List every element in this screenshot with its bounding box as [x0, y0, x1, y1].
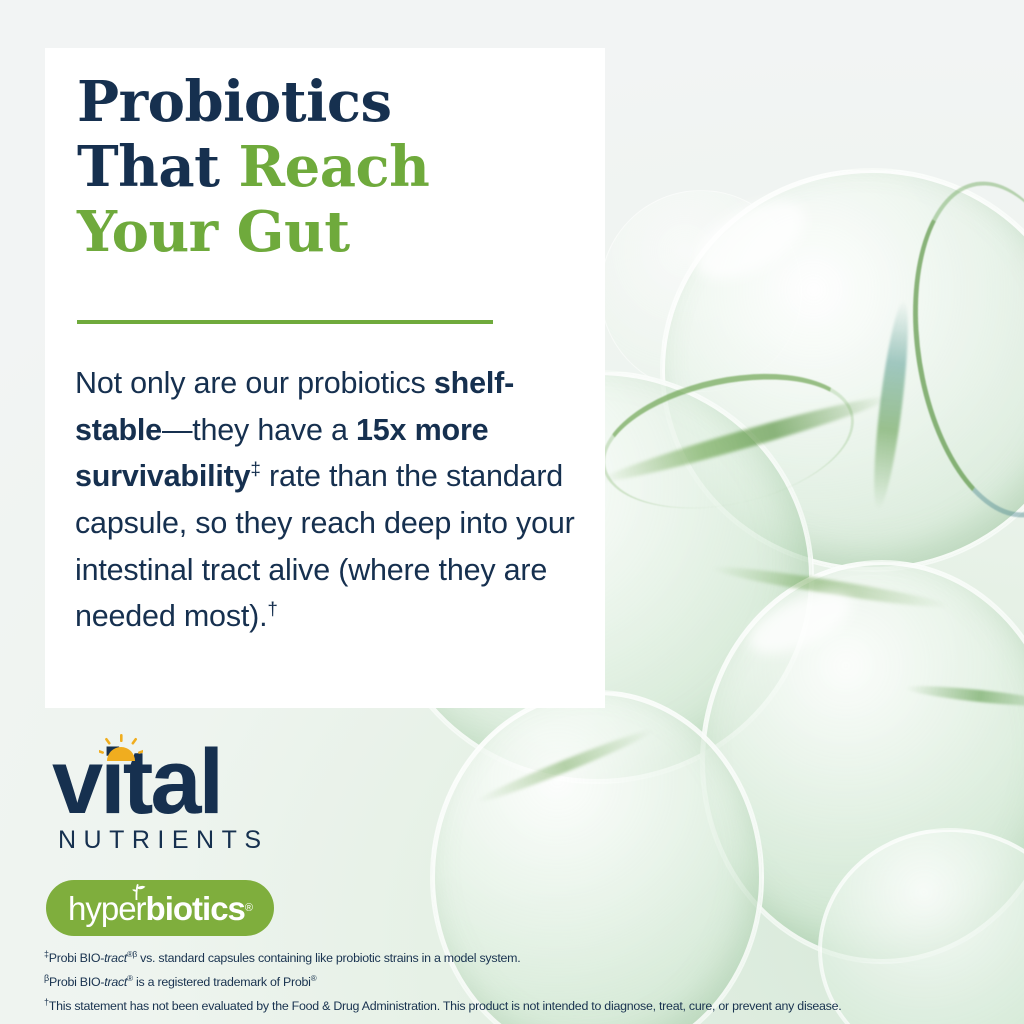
- hyperbiotics-bold-text: biotics: [146, 892, 245, 925]
- copy-card: Probiotics That Reach Your Gut Not only …: [45, 48, 605, 708]
- footnote-3: †This statement has not been evaluated b…: [44, 992, 1016, 1016]
- footnote-1-marks: ®β: [127, 950, 137, 959]
- footnote-1-italic: tract: [104, 951, 127, 965]
- ad-canvas: Probiotics That Reach Your Gut Not only …: [0, 0, 1024, 1024]
- footnote-2-italic: tract: [104, 975, 127, 989]
- sunburst-icon: [99, 734, 143, 762]
- footnote-marker-double-dagger: ‡: [250, 459, 260, 480]
- footnote-2-post: is a registered trademark of Probi: [133, 975, 311, 989]
- hyperbiotics-badge: hyperbiotics®: [46, 880, 274, 936]
- footnotes: ‡Probi BIO-tract®β vs. standard capsules…: [44, 944, 1016, 1016]
- headline-line-3-green: Your Gut: [77, 199, 350, 265]
- footnote-1: ‡Probi BIO-tract®β vs. standard capsules…: [44, 944, 1016, 968]
- leaf-sprout-icon: [128, 884, 146, 900]
- footnote-marker-dagger: †: [267, 599, 277, 620]
- headline-line-1: Probiotics: [77, 69, 392, 135]
- headline-line-2-dark: That: [77, 134, 239, 200]
- footnote-2: βProbi BIO-tract® is a registered tradem…: [44, 968, 1016, 992]
- body-text-1: Not only are our probiotics: [75, 366, 434, 400]
- footnote-2-pre: Probi BIO-: [49, 975, 104, 989]
- footnote-3-pre: This statement has not been evaluated by…: [49, 999, 842, 1013]
- page-title: Probiotics That Reach Your Gut: [77, 70, 577, 265]
- footnote-1-post: vs. standard capsules containing like pr…: [137, 951, 520, 965]
- vital-nutrients-logo: vital NUTRIENTS: [52, 728, 332, 853]
- footnote-2-tail: ®: [311, 974, 317, 983]
- footnote-1-pre: Probi BIO-: [49, 951, 104, 965]
- hyperbiotics-wordmark: hyperbiotics®: [46, 880, 274, 936]
- body-text-2: —they have a: [162, 413, 356, 447]
- vital-subtitle: NUTRIENTS: [58, 828, 269, 853]
- headline-divider: [77, 320, 493, 324]
- hyperbiotics-registered-mark: ®: [245, 903, 252, 914]
- body-copy: Not only are our probiotics shelf-stable…: [75, 360, 585, 640]
- headline-line-2-green: Reach: [239, 134, 430, 200]
